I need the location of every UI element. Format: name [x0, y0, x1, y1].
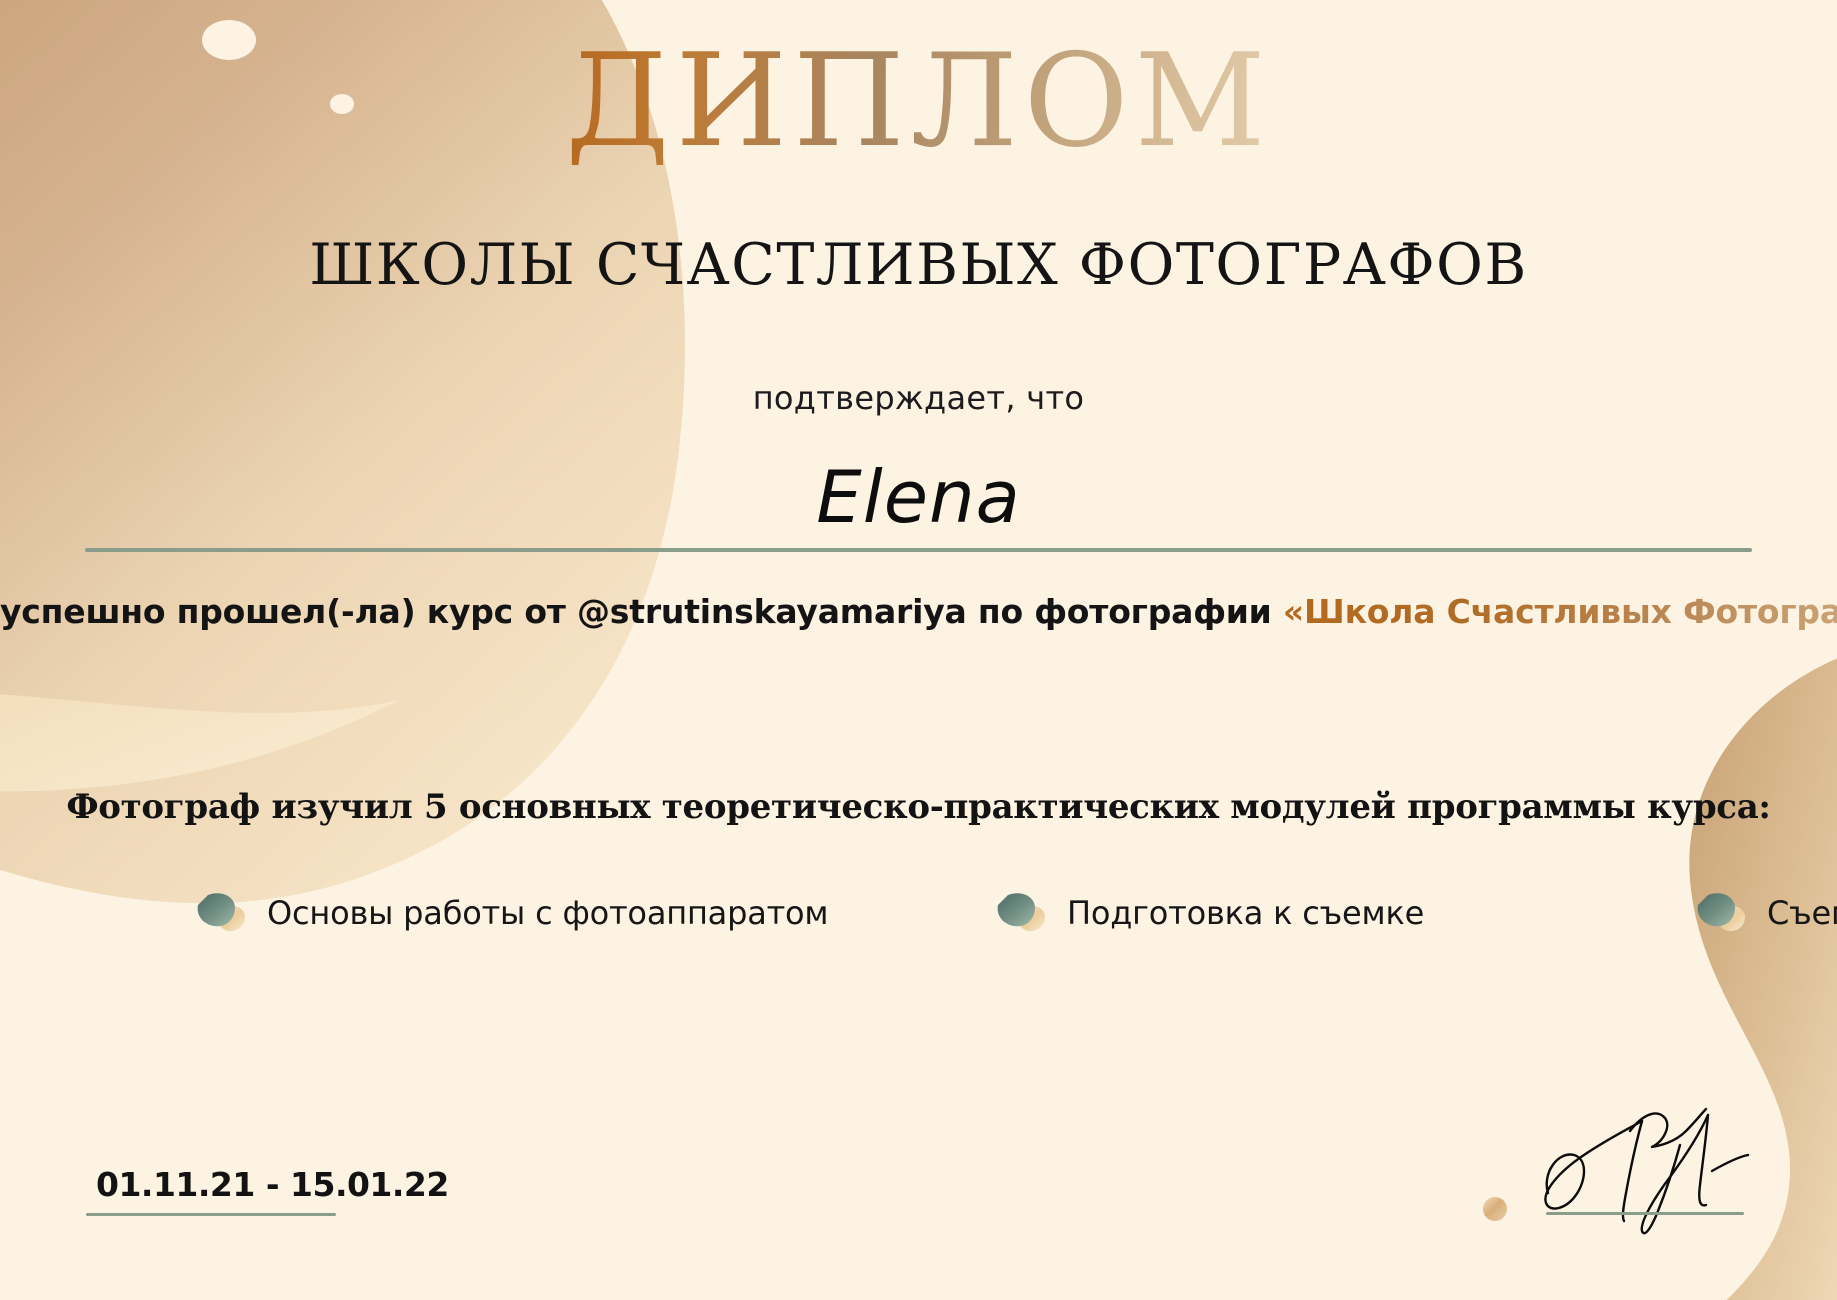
signature-icon	[1530, 1085, 1820, 1245]
school-subtitle: ШКОЛЫ СЧАСТЛИВЫХ ФОТОГРАФОВ	[0, 232, 1837, 298]
course-statement: успешно прошел(-ла) курс от @strutinskay…	[0, 592, 1837, 631]
dot-accent	[1483, 1197, 1507, 1221]
signature-underline	[1546, 1212, 1744, 1215]
name-underline	[85, 548, 1752, 552]
list-item: Подготовка к съемке	[995, 880, 1695, 946]
course-statement-prefix: успешно прошел(-ла) курс от @strutinskay…	[0, 592, 1283, 631]
diploma-certificate: ДИПЛОМ ШКОЛЫ СЧАСТЛИВЫХ ФОТОГРАФОВ подтв…	[0, 0, 1837, 1300]
module-label: Подготовка к съемке	[1067, 894, 1424, 932]
modules-heading: Фотограф изучил 5 основных теоретическо-…	[0, 787, 1837, 827]
page-title: ДИПЛОМ	[565, 38, 1271, 166]
modules-list: Основы работы с фотоаппаратом Подготовка…	[195, 880, 1695, 946]
pebble-bullet-icon	[995, 892, 1047, 934]
module-label: Съемка в помещении	[1767, 894, 1837, 932]
list-item: Съемка в помещении	[1695, 880, 1837, 946]
recipient-name: Elena	[0, 455, 1837, 539]
confirms-label: подтверждает, что	[0, 379, 1837, 417]
pebble-bullet-icon	[1695, 892, 1747, 934]
pebble-bullet-icon	[195, 892, 247, 934]
signature	[1530, 1085, 1820, 1245]
blob-bottom-left	[0, 690, 400, 792]
date-range: 01.11.21 - 15.01.22	[96, 1165, 449, 1204]
date-block: 01.11.21 - 15.01.22	[96, 1165, 386, 1204]
module-label: Основы работы с фотоаппаратом	[267, 894, 828, 932]
course-name: «Школа Счастливых Фотографов»	[1283, 592, 1837, 631]
title-block: ДИПЛОМ	[0, 38, 1837, 166]
date-underline	[86, 1213, 336, 1216]
list-item: Основы работы с фотоаппаратом	[195, 880, 995, 946]
